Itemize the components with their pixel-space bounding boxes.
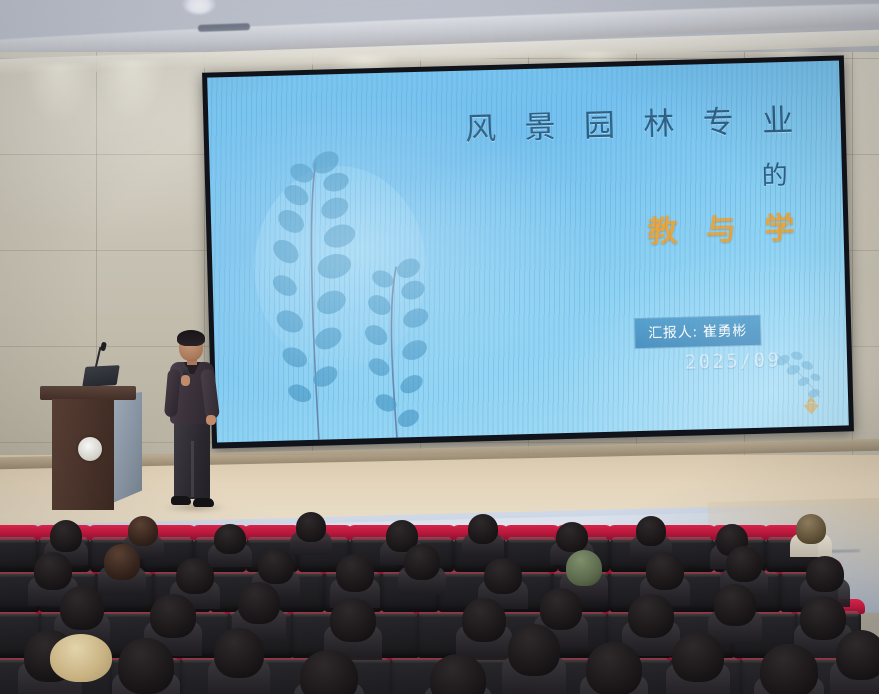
audience-member-head: [540, 588, 582, 630]
laptop-icon: [82, 365, 120, 387]
audience-member-head: [468, 514, 498, 544]
audience-member-head: [556, 522, 588, 552]
auditorium-seat: [0, 532, 38, 572]
audience-member-head: [636, 516, 666, 546]
audience-member-head: [508, 624, 560, 676]
podium: [40, 386, 136, 510]
speaker-hand-right: [206, 415, 216, 425]
audience-member-head: [150, 594, 196, 638]
slide-topic: 教 与 学: [647, 214, 804, 248]
audience-member-head: [238, 582, 280, 624]
lecture-hall-photo: 风 景 园 林 专 业 的 教 与 学 汇报人: 崔勇彬 2025/09: [0, 0, 879, 694]
audience-member-head: [806, 556, 844, 592]
audience-member-hat: [50, 634, 112, 682]
audience-member-head: [296, 512, 326, 542]
audience-member-head: [50, 520, 82, 552]
audience-member-head: [104, 544, 140, 580]
podium-body: [52, 399, 114, 510]
audience-member-head: [760, 644, 818, 694]
slide-title: 风 景 园 林 专 业: [465, 106, 803, 146]
audience-member-head: [404, 544, 440, 580]
audience-member-head: [462, 598, 506, 642]
audience-member-head: [796, 514, 826, 544]
audience-member-head: [176, 558, 214, 594]
downlight-5: [24, 64, 94, 124]
audience-member-head: [672, 632, 724, 682]
audience-member-head: [714, 584, 756, 626]
podium-emblem-icon: [78, 437, 102, 461]
led-screen: 风 景 园 林 专 业 的 教 与 学 汇报人: 崔勇彬 2025/09: [202, 55, 854, 448]
institution-logo-icon: [798, 394, 825, 417]
audience-member-head: [258, 548, 294, 584]
audience-member-head: [128, 516, 158, 546]
slide-subtitle: 的: [761, 163, 794, 190]
speaker-presenter: [162, 333, 222, 511]
audience-member-head: [214, 524, 246, 554]
audience-member-head: [646, 552, 684, 590]
slide-date: 2025/09: [685, 349, 782, 374]
podium-top: [40, 386, 136, 400]
speaker-leg-gap: [191, 441, 194, 497]
audience-member-head: [330, 598, 376, 642]
audience-member-head: [484, 558, 522, 594]
audience-member-head: [628, 594, 674, 638]
audience-member-head: [118, 638, 174, 694]
audience-member-head: [726, 546, 762, 582]
audience-seating: [0, 502, 879, 694]
speaker-hand-left: [181, 375, 190, 386]
presenter-label: 汇报人: 崔勇彬: [634, 315, 762, 349]
audience-member-head: [60, 586, 104, 630]
speaker-hair: [177, 330, 205, 346]
audience-member-head: [566, 550, 602, 586]
audience-member-head: [214, 628, 264, 678]
audience-member-head: [836, 630, 879, 680]
plant-illustration-icon: [239, 121, 468, 443]
downlight-1: [96, 60, 166, 120]
audience-member-head: [336, 554, 374, 592]
slide-surface: 风 景 园 林 专 业 的 教 与 学 汇报人: 崔勇彬 2025/09: [207, 61, 849, 443]
audience-member-head: [800, 596, 846, 640]
podium-side-panel: [110, 392, 142, 504]
audience-member-head: [34, 552, 72, 590]
audience-member-head: [586, 642, 642, 694]
